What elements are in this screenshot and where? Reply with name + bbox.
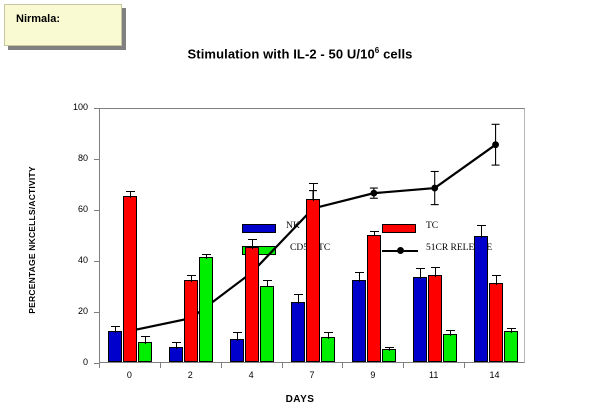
- bar-cd56-tc-day-11: [443, 334, 457, 362]
- comment-note[interactable]: Nirmala:: [4, 4, 122, 46]
- y-axis-title: PERCENTAGE NKCELLS/ACTIVITY: [27, 145, 37, 335]
- error-bar-cap: [477, 225, 486, 226]
- error-bar: [252, 239, 253, 249]
- bar-cd56-tc-day-0: [138, 342, 152, 362]
- chart-title-main: Stimulation with IL-2 - 50 U/10: [188, 46, 375, 61]
- error-bar: [115, 326, 116, 334]
- error-bar-cap: [507, 328, 516, 329]
- chart-title: Stimulation with IL-2 - 50 U/106 cells: [0, 46, 600, 61]
- error-bar-cap: [385, 347, 394, 348]
- error-bar: [420, 268, 421, 278]
- x-axis-tick: [464, 363, 465, 368]
- y-axis-tick: [94, 108, 99, 109]
- bar-nk-day-7: [291, 302, 305, 362]
- y-axis-tick: [94, 210, 99, 211]
- error-bar-cap: [111, 326, 120, 327]
- x-axis-tick-label: 0: [109, 370, 149, 380]
- error-bar: [191, 275, 192, 283]
- error-bar-cap: [446, 330, 455, 331]
- bar-cd56-tc-day-2: [199, 257, 213, 362]
- error-bar-cap: [431, 267, 440, 268]
- error-bar-cap: [141, 336, 150, 337]
- error-bar: [145, 336, 146, 344]
- bar-nk-day-4: [230, 339, 244, 362]
- plot-area: NKTCCD56+TC51CR RELEASE: [99, 108, 525, 363]
- bar-tc-day-11: [428, 275, 442, 362]
- error-bar-cap: [492, 275, 501, 276]
- error-bar: [298, 294, 299, 304]
- x-axis-tick: [342, 363, 343, 368]
- bar-cd56-tc-day-4: [260, 286, 274, 363]
- error-bar-cap: [248, 239, 257, 240]
- bar-tc-day-2: [184, 280, 198, 362]
- error-bar-cap: [187, 275, 196, 276]
- bar-nk-day-11: [413, 277, 427, 362]
- error-bar-cap: [263, 280, 272, 281]
- error-bar: [130, 191, 131, 199]
- error-bar-cap: [324, 332, 333, 333]
- bar-tc-day-14: [489, 283, 503, 362]
- bar-nk-day-14: [474, 236, 488, 362]
- error-bar-cap: [294, 294, 303, 295]
- bar-cd56-tc-day-14: [504, 331, 518, 362]
- bar-tc-day-4: [245, 247, 259, 362]
- bar-nk-day-0: [108, 331, 122, 362]
- error-bar: [496, 275, 497, 285]
- error-bar-cap: [355, 272, 364, 273]
- x-axis-tick: [403, 363, 404, 368]
- x-axis-title: DAYS: [0, 394, 600, 405]
- error-bar-cap: [233, 332, 242, 333]
- error-bar-cap: [416, 268, 425, 269]
- x-axis-tick-label: 14: [475, 370, 515, 380]
- x-axis-tick-label: 4: [231, 370, 271, 380]
- bar-tc-day-9: [367, 235, 381, 363]
- y-axis-tick-label: 40: [58, 255, 88, 265]
- error-bar-cap: [202, 254, 211, 255]
- bar-nk-day-9: [352, 280, 366, 362]
- x-axis-tick-label: 9: [353, 370, 393, 380]
- error-bar: [313, 183, 314, 201]
- y-axis-tick-label: 100: [58, 102, 88, 112]
- error-bar-cap: [126, 191, 135, 192]
- bar-nk-day-2: [169, 347, 183, 362]
- error-bar-cap: [370, 231, 379, 232]
- x-axis-tick: [160, 363, 161, 368]
- y-axis-tick: [94, 312, 99, 313]
- error-bar: [359, 272, 360, 282]
- note-author-label: Nirmala:: [16, 13, 60, 25]
- bar-tc-day-0: [123, 196, 137, 362]
- error-bar: [481, 225, 482, 238]
- bar-tc-day-7: [306, 199, 320, 362]
- y-axis-tick: [94, 159, 99, 160]
- error-bar: [237, 332, 238, 341]
- error-bar: [435, 267, 436, 277]
- error-bar-cap: [172, 342, 181, 343]
- x-axis-tick: [99, 363, 100, 368]
- y-axis-tick-label: 80: [58, 153, 88, 163]
- error-bar: [267, 280, 268, 288]
- bar-cd56-tc-day-7: [321, 337, 335, 363]
- x-axis-tick-label: 7: [292, 370, 332, 380]
- y-axis-tick-label: 20: [58, 306, 88, 316]
- y-axis-tick-label: 60: [58, 204, 88, 214]
- chart-title-suffix: cells: [379, 46, 412, 61]
- error-bar-cap: [309, 183, 318, 184]
- x-axis-tick: [221, 363, 222, 368]
- y-axis-tick-label: 0: [58, 357, 88, 367]
- y-axis-tick: [94, 261, 99, 262]
- x-axis-tick-label: 2: [170, 370, 210, 380]
- x-axis-tick: [282, 363, 283, 368]
- x-axis-tick-label: 11: [414, 370, 454, 380]
